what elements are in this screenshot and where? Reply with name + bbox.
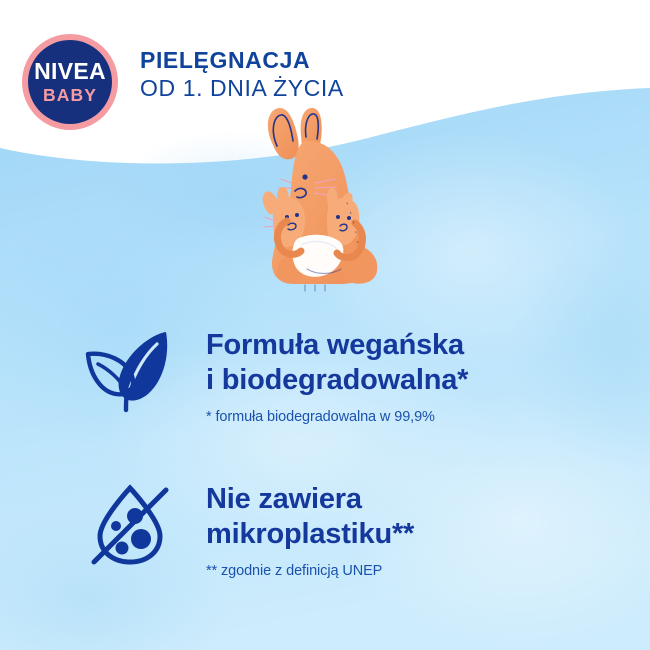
claim-no-microplastic-text: Nie zawiera mikroplastiku** ** zgodnie z… xyxy=(206,482,414,581)
claim-no-microplastic-title: Nie zawiera mikroplastiku** xyxy=(206,482,414,553)
claim-no-microplastic-note: ** zgodnie z definicją UNEP xyxy=(206,562,414,581)
tagline-line-2: OD 1. DNIA ŻYCIA xyxy=(140,74,344,102)
claim-vegan-text: Formuła wegańska i biodegradowalna* * fo… xyxy=(206,328,468,427)
two-leaves-icon xyxy=(78,328,178,414)
nivea-baby-logo: NIVEA BABY xyxy=(22,34,118,130)
claim-no-microplastic: Nie zawiera mikroplastiku** ** zgodnie z… xyxy=(78,482,414,581)
claim-vegan: Formuła wegańska i biodegradowalna* * fo… xyxy=(78,328,468,427)
claim-vegan-note: * formuła biodegradowalna w 99,9% xyxy=(206,408,468,427)
logo-disc: NIVEA BABY xyxy=(28,40,112,124)
logo-sub-brand-name: BABY xyxy=(43,87,97,105)
rabbit-illustration xyxy=(243,105,403,295)
logo-brand-name: NIVEA xyxy=(34,60,106,83)
claim-vegan-title: Formuła wegańska i biodegradowalna* xyxy=(206,328,468,399)
nivea-baby-promo-poster: NIVEA BABY PIELĘGNACJA OD 1. DNIA ŻYCIA xyxy=(0,0,650,650)
no-microplastic-droplet-icon xyxy=(78,482,178,568)
tagline: PIELĘGNACJA OD 1. DNIA ŻYCIA xyxy=(140,46,344,102)
tagline-line-1: PIELĘGNACJA xyxy=(140,46,344,74)
